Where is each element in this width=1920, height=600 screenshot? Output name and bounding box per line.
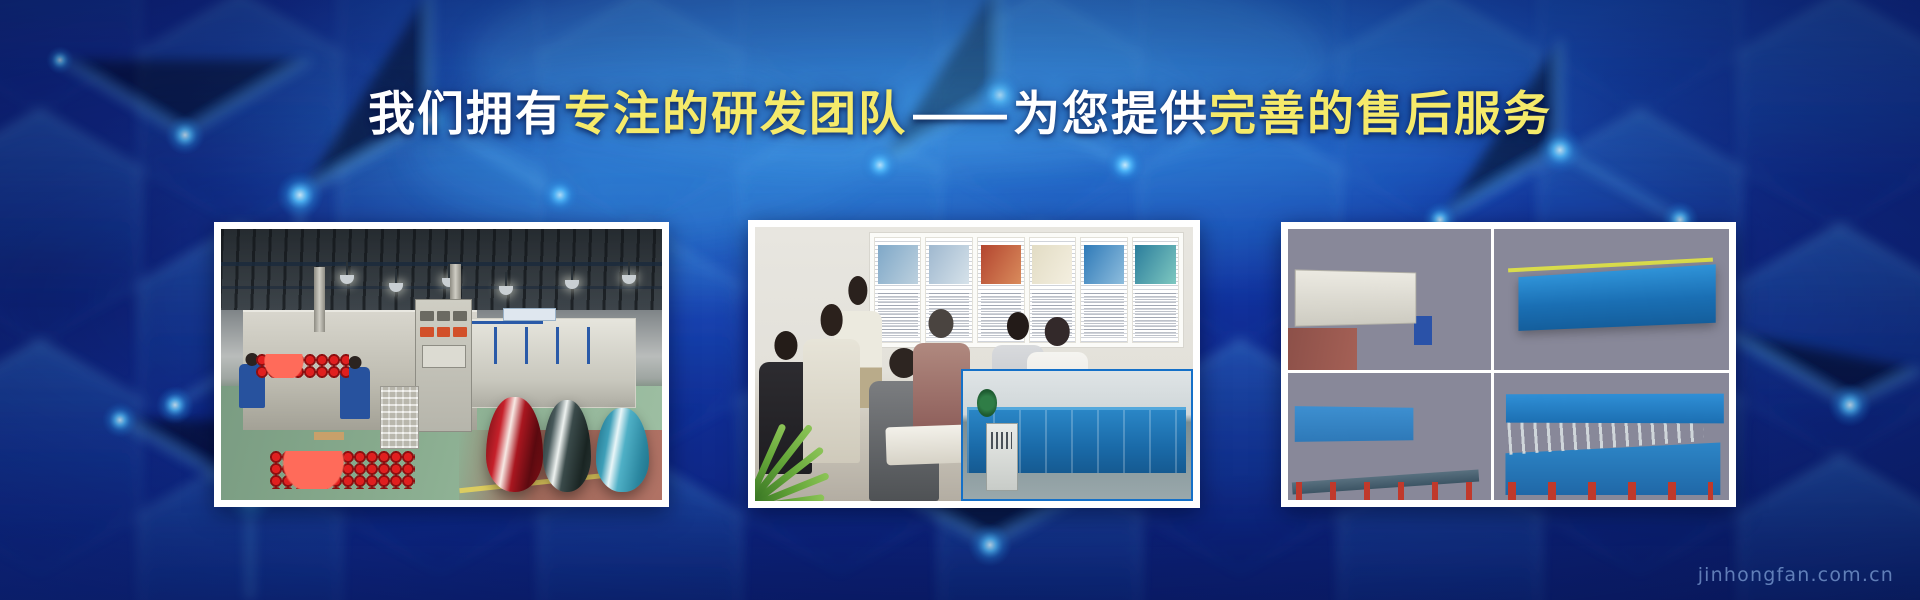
wooden-stool bbox=[314, 432, 345, 440]
person-head bbox=[1007, 312, 1029, 340]
worker-in-blue bbox=[1414, 316, 1432, 344]
client-meeting-photo[interactable] bbox=[748, 220, 1200, 508]
document-holder bbox=[503, 308, 556, 322]
certificate bbox=[1032, 245, 1072, 284]
poster-photo bbox=[878, 245, 918, 284]
equipment-collage-photo[interactable] bbox=[1281, 222, 1736, 507]
poster-text-block bbox=[1135, 293, 1175, 336]
red-glass-batch bbox=[270, 451, 416, 489]
client-meeting-image bbox=[755, 227, 1193, 501]
control-panel-cabinet bbox=[415, 299, 472, 432]
roof-beam bbox=[221, 262, 662, 266]
red-support-legs bbox=[1508, 482, 1713, 500]
plastic-crate bbox=[380, 386, 420, 448]
control-cabinet bbox=[986, 423, 1018, 492]
glass-vase-teal bbox=[596, 408, 649, 492]
person-head bbox=[774, 331, 797, 359]
headline-segment-2: 专注的研发团队 bbox=[564, 87, 907, 140]
blue-trim bbox=[494, 327, 497, 365]
yellow-gas-pipe bbox=[1508, 257, 1713, 272]
collage-cell-hanging-line bbox=[1494, 373, 1729, 500]
blue-trim bbox=[472, 321, 543, 324]
red-floor-area bbox=[1288, 328, 1357, 370]
red-support-legs bbox=[1296, 482, 1475, 500]
headline-segment-1: 我们拥有 bbox=[368, 87, 564, 140]
collage-cell-conveyor bbox=[1288, 373, 1491, 500]
headline-segment-dash: —— bbox=[907, 87, 1013, 140]
poster-diagram bbox=[929, 245, 969, 284]
person-head bbox=[929, 309, 954, 338]
red-glass-on-conveyor bbox=[256, 354, 349, 378]
glass-vase-red bbox=[486, 397, 543, 492]
headline-segment-4: 完善的售后服务 bbox=[1209, 87, 1552, 140]
poster-photo bbox=[1135, 245, 1175, 284]
page-title: 我们拥有专注的研发团队——为您提供完善的售后服务 bbox=[0, 86, 1920, 142]
poster-text-block bbox=[1084, 293, 1124, 336]
blue-trim bbox=[556, 327, 559, 365]
poster-text-block bbox=[878, 293, 918, 336]
machinery-inset-image bbox=[961, 369, 1193, 501]
collage-grid bbox=[1288, 229, 1729, 500]
poster-photo bbox=[981, 245, 1021, 284]
blue-trim bbox=[525, 327, 528, 365]
headline-segment-3: 为您提供 bbox=[1013, 87, 1209, 140]
control-indicator-lights bbox=[420, 327, 466, 337]
roof-beam bbox=[221, 286, 662, 289]
person-head bbox=[848, 276, 867, 305]
control-gauges bbox=[420, 311, 466, 321]
glass-vase-dark bbox=[543, 400, 592, 492]
production-line-photo[interactable] bbox=[214, 222, 669, 507]
collage-cell-blue-furnace bbox=[1494, 229, 1729, 370]
site-watermark: jinhongfan.com.cn bbox=[1698, 564, 1894, 586]
exhaust-stack bbox=[314, 267, 325, 332]
production-line-image bbox=[221, 229, 662, 500]
banner-stage: 我们拥有专注的研发团队——为您提供完善的售后服务 bbox=[0, 0, 1920, 600]
control-label-plate bbox=[422, 345, 466, 369]
technical-poster bbox=[1132, 237, 1180, 342]
factory-roof-trusses bbox=[221, 229, 662, 310]
equipment-collage-image bbox=[1288, 229, 1729, 500]
person-head bbox=[820, 304, 843, 336]
person-head bbox=[1045, 317, 1070, 346]
photo-gallery bbox=[0, 222, 1920, 512]
blue-trim bbox=[587, 327, 590, 365]
collage-cell-workshop-line bbox=[1288, 229, 1491, 370]
certificate bbox=[1084, 245, 1124, 284]
potted-palm bbox=[755, 397, 878, 501]
